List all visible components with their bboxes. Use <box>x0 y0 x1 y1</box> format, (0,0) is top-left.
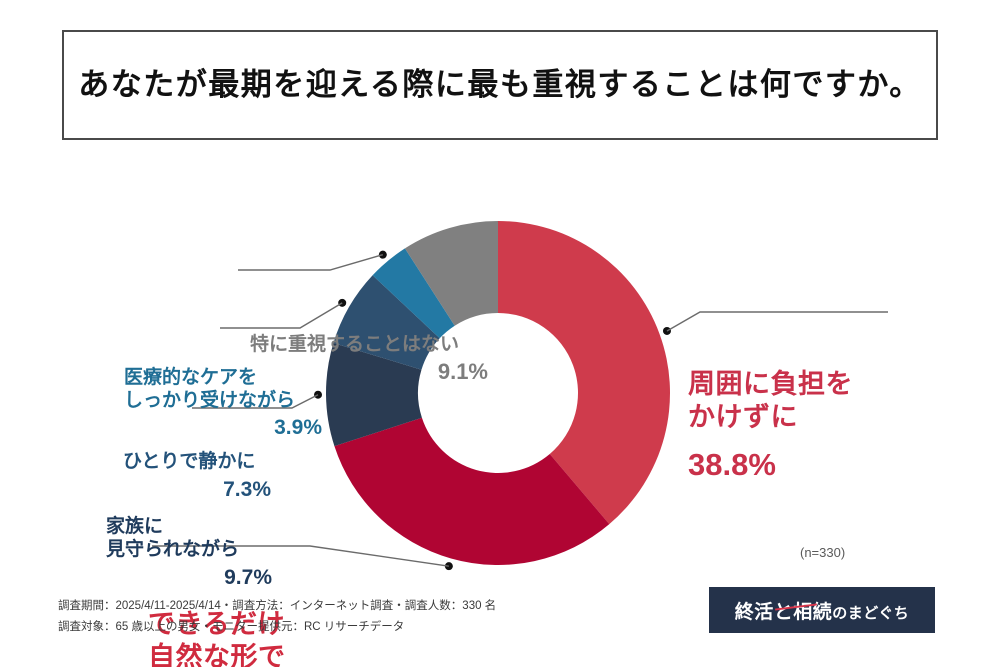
brand-logo-sub: のまどぐち <box>832 605 909 622</box>
brand-logo-text: 終活と相続のまどぐち <box>735 597 910 624</box>
brand-logo-main: 終活と相続 <box>735 602 833 623</box>
leader-line-3 <box>220 303 342 328</box>
donut-slices <box>326 221 670 565</box>
footnote-line-1: 調査期間：2025/4/11-2025/4/14・調査方法：インターネット調査・… <box>58 596 496 617</box>
slice-label-0: 周囲に負担を かけずに 38.8% <box>688 368 853 484</box>
footnotes: 調査期間：2025/4/11-2025/4/14・調査方法：インターネット調査・… <box>58 596 496 639</box>
slice-value-2: 9.7% <box>106 565 272 591</box>
slice-label-2-line2: 見守られながら <box>106 538 272 561</box>
slice-value-4: 3.9% <box>124 415 322 441</box>
slice-label-2-line1: 家族に <box>106 515 272 538</box>
slice-label-2: 家族に 見守られながら 9.7% <box>106 515 272 591</box>
infographic-page: あなたが最期を迎える際に最も重視することは何ですか。 周囲に負担を かけずに 3… <box>0 0 1000 667</box>
slice-label-0-line1: 周囲に負担を <box>688 368 853 401</box>
slice-label-5: 特に重視することはない 9.1% <box>250 333 488 386</box>
leader-dot-3 <box>338 299 346 307</box>
sample-size-note: (n=330) <box>800 545 845 560</box>
slice-label-1-line2: 自然な形で <box>148 641 334 667</box>
slice-label-3: ひとりで静かに 7.3% <box>123 450 271 503</box>
donut-chart: 周囲に負担を かけずに 38.8% できるだけ 自然な形で 31.2% 家族に … <box>0 150 1000 600</box>
slice-label-4-line2: しっかり受けながら <box>124 389 322 412</box>
slice-value-3: 7.3% <box>123 477 271 503</box>
slice-value-0: 38.8% <box>688 446 853 484</box>
leader-line-4 <box>238 255 383 270</box>
brand-logo[interactable]: 終活と相続のまどぐち <box>708 586 936 634</box>
slice-value-5: 9.1% <box>250 359 488 386</box>
leader-dot-0 <box>663 327 671 335</box>
footnote-line-2: 調査対象：65 歳以上の男女・モニター提供元：RC リサーチデータ <box>58 617 496 638</box>
leader-line-0 <box>667 312 888 331</box>
page-title: あなたが最期を迎える際に最も重視することは何ですか。 <box>78 66 921 103</box>
slice-label-3-line1: ひとりで静かに <box>123 450 271 473</box>
slice-label-5-line1: 特に重視することはない <box>250 333 488 356</box>
title-box: あなたが最期を迎える際に最も重視することは何ですか。 <box>62 30 938 140</box>
slice-label-0-line2: かけずに <box>688 401 853 434</box>
